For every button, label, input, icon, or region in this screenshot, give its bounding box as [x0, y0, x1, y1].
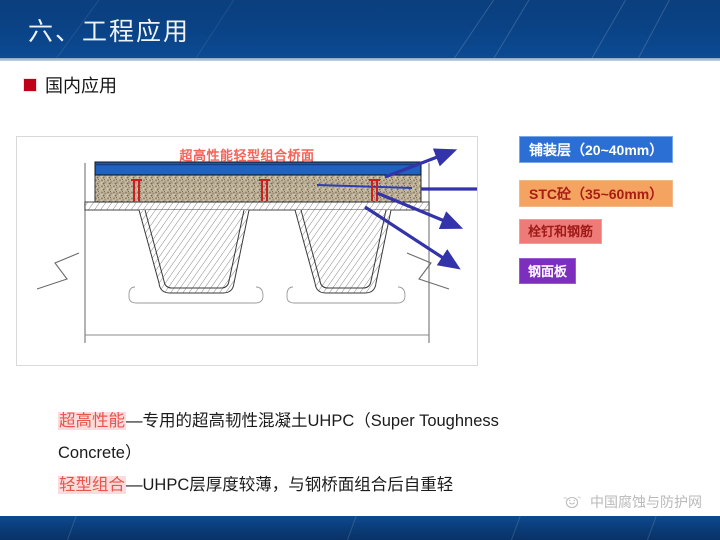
banner-streak	[624, 0, 691, 58]
legend-item-pavement[interactable]: 铺装层（20~40mm）	[519, 136, 673, 163]
red-square-bullet-icon	[24, 79, 36, 91]
banner-streak	[436, 0, 521, 58]
section-bullet: 国内应用	[24, 72, 117, 98]
page-title: 六、工程应用	[28, 12, 190, 48]
footer-streak	[641, 516, 661, 540]
banner-streak	[575, 0, 656, 58]
section-bullet-label: 国内应用	[45, 72, 117, 98]
footer-streak	[61, 516, 81, 540]
body-text: 超高性能—专用的超高韧性混凝土UHPC（Super Toughness Conc…	[58, 405, 678, 502]
bridge-deck-figure: 超高性能轻型组合桥面	[16, 136, 478, 366]
banner-streak	[190, 0, 251, 58]
watermark-text: 中国腐蚀与防护网	[590, 492, 702, 512]
body-line-1-rest: —专用的超高韧性混凝土UHPC（Super Toughness	[126, 412, 499, 430]
bridge-deck-drawing	[17, 137, 477, 365]
slide-root: 六、工程应用 国内应用 超高性能轻型组合桥面	[0, 0, 720, 540]
banner-streak	[479, 0, 557, 58]
legend-item-stc[interactable]: STC砼（35~60mm）	[519, 180, 673, 207]
body-line-1: 超高性能—专用的超高韧性混凝土UHPC（Super Toughness	[58, 405, 678, 437]
body-line-3-rest: —UHPC层厚度较薄，与钢桥面组合后自重轻	[126, 476, 453, 494]
term-ultra-high-performance: 超高性能	[58, 412, 126, 430]
smiley-face-icon	[561, 494, 583, 510]
footer-streak	[341, 516, 361, 540]
legend-item-studs[interactable]: 栓钉和钢筋	[519, 219, 602, 244]
body-line-2: Concrete）	[58, 437, 678, 469]
banner-underline	[0, 58, 720, 61]
slide-footer-bar	[0, 516, 720, 540]
watermark: 中国腐蚀与防护网	[561, 492, 702, 512]
footer-streak	[505, 516, 525, 540]
legend-item-steel-plate[interactable]: 钢面板	[519, 258, 576, 284]
term-lightweight-composite: 轻型组合	[58, 476, 126, 494]
